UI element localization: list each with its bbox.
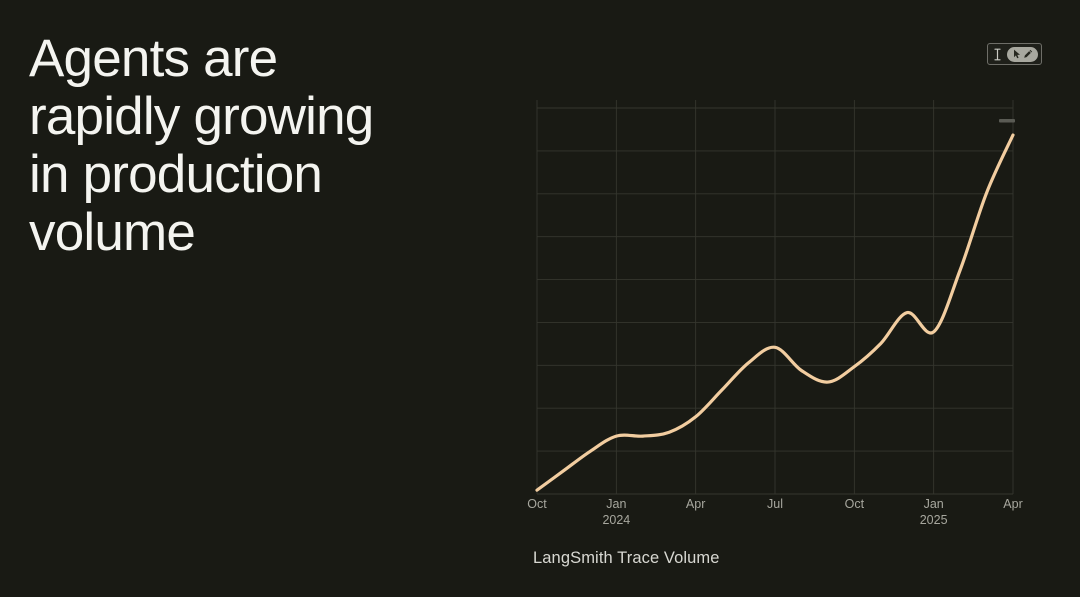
x-axis-tick-month: Jan (924, 497, 944, 511)
x-axis-tick-6: Apr (1003, 496, 1022, 512)
slide-root: Agents are rapidly growing in production… (0, 0, 1080, 597)
x-axis-tick-2: Apr (686, 496, 705, 512)
chart-container: OctJan2024AprJulOctJan2025Apr (533, 92, 1023, 512)
x-axis-tick-month: Apr (686, 497, 705, 511)
text-cursor-icon[interactable] (992, 47, 1003, 61)
x-axis-tick-1: Jan2024 (602, 496, 630, 528)
x-axis-tick-month: Oct (845, 497, 864, 511)
x-axis-tick-month: Apr (1003, 497, 1022, 511)
x-axis-tick-labels: OctJan2024AprJulOctJan2025Apr (533, 496, 1023, 542)
vertical-gridlines (537, 100, 1013, 494)
line-chart-plot (537, 100, 1013, 494)
x-axis-tick-month: Jan (606, 497, 626, 511)
endpoint-marker (999, 119, 1015, 123)
x-axis-tick-4: Oct (845, 496, 864, 512)
chart-svg (537, 100, 1013, 494)
x-axis-tick-month: Jul (767, 497, 783, 511)
x-axis-tick-0: Oct (527, 496, 546, 512)
cursor-pointer-icon[interactable] (1013, 49, 1022, 59)
x-axis-tick-5: Jan2025 (920, 496, 948, 528)
x-axis-tick-year: 2025 (920, 512, 948, 528)
pen-icon[interactable] (1023, 49, 1033, 59)
chart-caption: LangSmith Trace Volume (533, 549, 720, 568)
page-title: Agents are rapidly growing in production… (29, 30, 489, 262)
x-axis-tick-year: 2024 (602, 512, 630, 528)
pointer-pen-toggle[interactable] (1007, 47, 1038, 62)
x-axis-tick-3: Jul (767, 496, 783, 512)
floating-toolbar[interactable] (987, 43, 1042, 65)
x-axis-tick-month: Oct (527, 497, 546, 511)
